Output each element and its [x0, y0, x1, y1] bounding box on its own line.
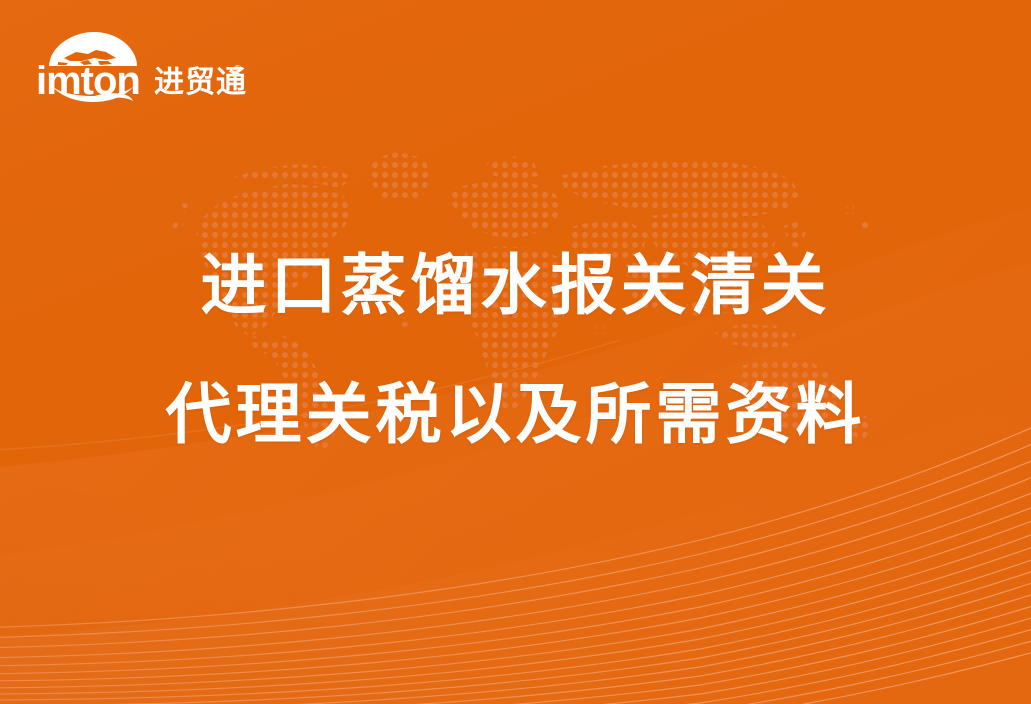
logo-graphic: imton 进贸通 ®	[36, 28, 246, 108]
banner-root: imton 进贸通 ® 进口蒸馏水报关清关 代理关税以及所需资料	[0, 0, 1031, 704]
logo-wordmark: imton	[36, 59, 140, 103]
registered-trademark-icon: ®	[234, 64, 242, 75]
logo[interactable]: imton 进贸通 ®	[36, 28, 246, 108]
headline-line-2: 代理关税以及所需资料	[0, 381, 1031, 447]
logo-chinese-name: 进贸通	[154, 66, 246, 99]
headline: 进口蒸馏水报关清关 代理关税以及所需资料	[0, 252, 1031, 447]
headline-line-1: 进口蒸馏水报关清关	[0, 252, 1031, 318]
